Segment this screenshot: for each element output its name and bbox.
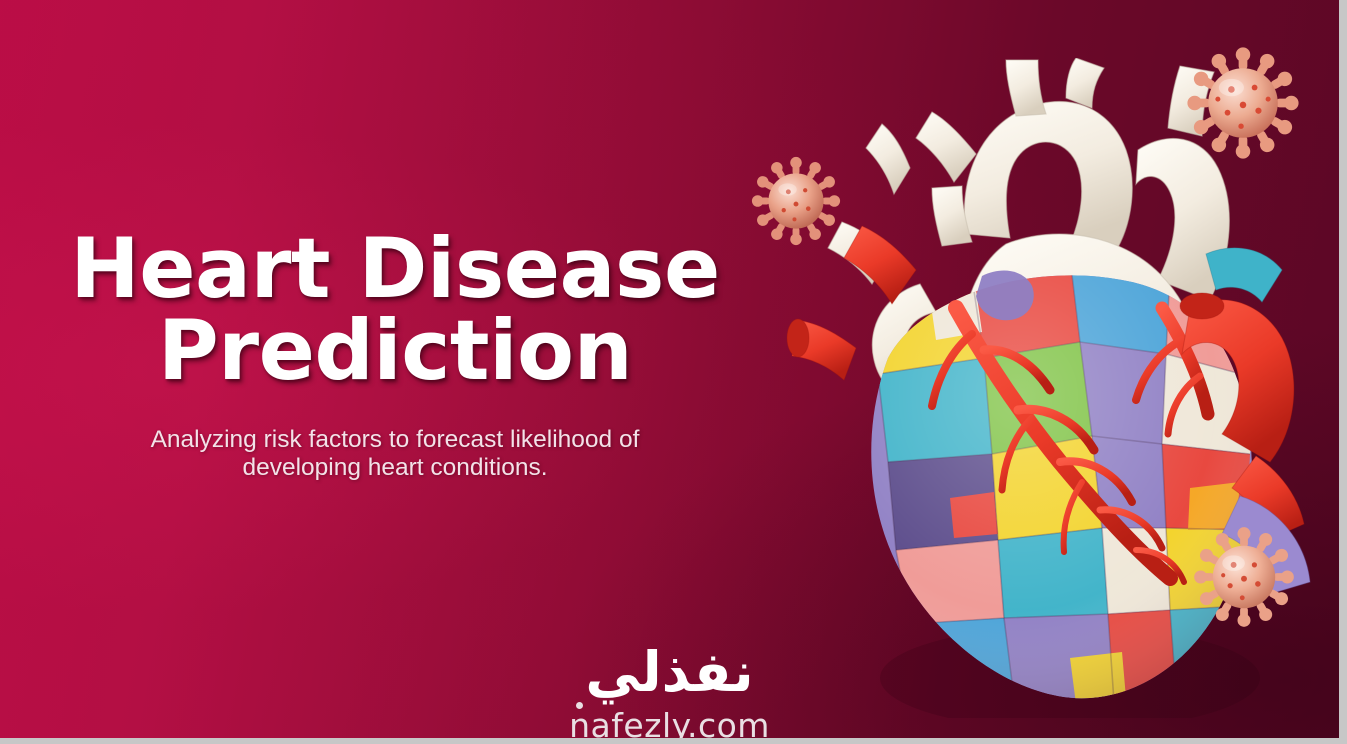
watermark-domain-label: nafezly.com — [569, 706, 770, 738]
coronavirus-particle-top-right-icon — [1185, 45, 1301, 161]
watermark-domain: nafezly.com — [569, 709, 770, 738]
page-subtitle: Analyzing risk factors to forecast likel… — [0, 426, 790, 482]
canvas-edge-bottom — [0, 738, 1347, 744]
watermark: نفذلي nafezly.com — [0, 645, 1339, 738]
canvas-edge-right — [1339, 0, 1347, 744]
watermark-arabic-logo: نفذلي — [0, 645, 1339, 707]
slide-canvas: Heart Disease Prediction Analyzing risk … — [0, 0, 1339, 738]
page-title: Heart Disease Prediction — [0, 228, 790, 392]
hero-text-block: Heart Disease Prediction Analyzing risk … — [0, 228, 790, 482]
coronavirus-particle-bottom-right-icon — [1192, 525, 1296, 629]
